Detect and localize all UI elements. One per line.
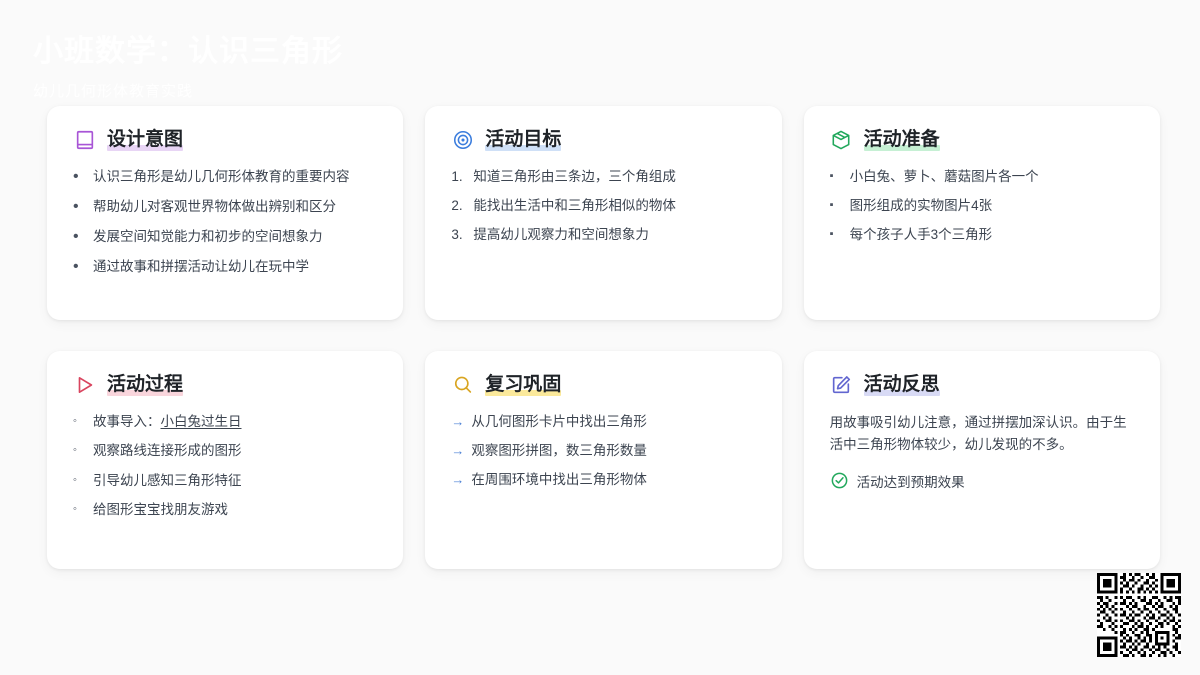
list-item-text: 故事导入：小白兔过生日 (93, 412, 377, 432)
card-title-wrap: 复习巩固 (485, 374, 561, 396)
play-triangle-icon (73, 373, 96, 396)
list-item: 1. 知道三角形由三条边，三个角组成 (451, 167, 755, 187)
bullet-circle-icon: ◦ (73, 412, 93, 432)
list-item-text: 从几何图形卡片中找出三角形 (471, 412, 755, 432)
card-title: 设计意图 (107, 129, 183, 150)
list-number: 3. (451, 225, 473, 245)
page-title: 小班数学：认识三角形 (33, 33, 733, 71)
card-activity-goals[interactable]: 活动目标 1. 知道三角形由三条边，三个角组成 2. 能找出生活中和三角形相似的… (425, 106, 781, 320)
card-list: • 认识三角形是幼儿几何形体教育的重要内容 • 帮助幼儿对客观世界物体做出辨别和… (73, 167, 377, 277)
list-item-text: 观察图形拼图，数三角形数量 (471, 441, 755, 461)
list-item-emphasis: 小白兔过生日 (161, 414, 242, 429)
arrow-right-icon: → (451, 412, 471, 432)
card-design-intent[interactable]: 设计意图 • 认识三角形是幼儿几何形体教育的重要内容 • 帮助幼儿对客观世界物体… (47, 106, 403, 320)
card-list: ◦ 故事导入：小白兔过生日 ◦ 观察路线连接形成的图形 ◦ 引导幼儿感知三角形特… (73, 412, 377, 520)
bullet-dot-icon: • (73, 227, 93, 247)
list-item-text: 给图形宝宝找朋友游戏 (93, 500, 377, 520)
card-list: ▪ 小白兔、萝卜、蘑菇图片各一个 ▪ 图形组成的实物图片4张 ▪ 每个孩子人手3… (830, 167, 1134, 245)
bullet-square-icon: ▪ (830, 167, 850, 186)
card-list: → 从几何图形卡片中找出三角形 → 观察图形拼图，数三角形数量 → 在周围环境中… (451, 412, 755, 490)
list-item: ◦ 给图形宝宝找朋友游戏 (73, 500, 377, 520)
card-header: 复习巩固 (451, 373, 755, 396)
list-item-text: 图形组成的实物图片4张 (850, 196, 1134, 216)
edit-square-icon (830, 373, 853, 396)
card-header: 活动准备 (830, 128, 1134, 151)
list-item: ◦ 故事导入：小白兔过生日 (73, 412, 377, 432)
card-activity-preparation[interactable]: 活动准备 ▪ 小白兔、萝卜、蘑菇图片各一个 ▪ 图形组成的实物图片4张 ▪ 每个… (804, 106, 1160, 320)
card-title-wrap: 设计意图 (107, 129, 183, 151)
list-item: ▪ 图形组成的实物图片4张 (830, 196, 1134, 216)
bullet-dot-icon: • (73, 167, 93, 187)
bullet-circle-icon: ◦ (73, 471, 93, 491)
page-header: 小班数学：认识三角形 幼儿几何形体教育实践 (33, 33, 733, 101)
list-item-text: 帮助幼儿对客观世界物体做出辨别和区分 (93, 197, 377, 217)
list-item-text: 观察路线连接形成的图形 (93, 441, 377, 461)
card-activity-reflection[interactable]: 活动反思 用故事吸引幼儿注意，通过拼摆加深认识。由于生活中三角形物体较少，幼儿发… (804, 351, 1160, 569)
reflection-note-text: 活动达到预期效果 (857, 471, 965, 491)
list-item: • 帮助幼儿对客观世界物体做出辨别和区分 (73, 197, 377, 217)
list-item-label: 故事导入： (93, 414, 161, 429)
bullet-circle-icon: ◦ (73, 500, 93, 520)
card-title: 活动目标 (485, 129, 561, 150)
reflection-paragraph: 用故事吸引幼儿注意，通过拼摆加深认识。由于生活中三角形物体较少，幼儿发现的不多。 (830, 412, 1134, 457)
card-header: 活动反思 (830, 373, 1134, 396)
card-list: 1. 知道三角形由三条边，三个角组成 2. 能找出生活中和三角形相似的物体 3.… (451, 167, 755, 245)
qr-code[interactable] (1097, 573, 1181, 657)
card-title: 活动准备 (864, 129, 940, 150)
list-item: ◦ 引导幼儿感知三角形特征 (73, 471, 377, 491)
list-item-text: 通过故事和拼摆活动让幼儿在玩中学 (93, 257, 377, 277)
bullet-square-icon: ▪ (830, 196, 850, 215)
card-title-wrap: 活动准备 (864, 129, 940, 151)
bullet-square-icon: ▪ (830, 225, 850, 244)
check-circle-icon (830, 471, 849, 490)
page-subtitle: 幼儿几何形体教育实践 (33, 80, 733, 101)
package-icon (830, 128, 853, 151)
card-grid: 设计意图 • 认识三角形是幼儿几何形体教育的重要内容 • 帮助幼儿对客观世界物体… (47, 106, 1160, 569)
card-header: 设计意图 (73, 128, 377, 151)
card-review-consolidation[interactable]: 复习巩固 → 从几何图形卡片中找出三角形 → 观察图形拼图，数三角形数量 → 在… (425, 351, 781, 569)
list-item: 2. 能找出生活中和三角形相似的物体 (451, 196, 755, 216)
list-number: 1. (451, 167, 473, 187)
arrow-right-icon: → (451, 441, 471, 461)
arrow-right-icon: → (451, 470, 471, 490)
list-item: • 通过故事和拼摆活动让幼儿在玩中学 (73, 257, 377, 277)
bullet-dot-icon: • (73, 197, 93, 217)
list-item: ▪ 小白兔、萝卜、蘑菇图片各一个 (830, 167, 1134, 187)
card-title: 活动过程 (107, 374, 183, 395)
list-item-text: 小白兔、萝卜、蘑菇图片各一个 (850, 167, 1134, 187)
list-item: 3. 提高幼儿观察力和空间想象力 (451, 225, 755, 245)
card-title-wrap: 活动目标 (485, 129, 561, 151)
list-item-text: 引导幼儿感知三角形特征 (93, 471, 377, 491)
book-icon (73, 128, 96, 151)
list-item: • 认识三角形是幼儿几何形体教育的重要内容 (73, 167, 377, 187)
card-activity-process[interactable]: 活动过程 ◦ 故事导入：小白兔过生日 ◦ 观察路线连接形成的图形 ◦ 引导幼儿感… (47, 351, 403, 569)
card-header: 活动目标 (451, 128, 755, 151)
card-title-wrap: 活动反思 (864, 374, 940, 396)
list-item-text: 能找出生活中和三角形相似的物体 (473, 196, 755, 216)
magnifier-icon (451, 373, 474, 396)
card-title-wrap: 活动过程 (107, 374, 183, 396)
target-icon (451, 128, 474, 151)
list-item: → 从几何图形卡片中找出三角形 (451, 412, 755, 432)
list-item: ▪ 每个孩子人手3个三角形 (830, 225, 1134, 245)
card-title: 复习巩固 (485, 374, 561, 395)
list-item: → 观察图形拼图，数三角形数量 (451, 441, 755, 461)
list-item-text: 发展空间知觉能力和初步的空间想象力 (93, 227, 377, 247)
bullet-dot-icon: • (73, 257, 93, 277)
list-item-text: 在周围环境中找出三角形物体 (471, 470, 755, 490)
list-item-text: 知道三角形由三条边，三个角组成 (473, 167, 755, 187)
list-number: 2. (451, 196, 473, 216)
card-header: 活动过程 (73, 373, 377, 396)
bullet-circle-icon: ◦ (73, 441, 93, 461)
card-title: 活动反思 (864, 374, 940, 395)
list-item-text: 认识三角形是幼儿几何形体教育的重要内容 (93, 167, 377, 187)
list-item: • 发展空间知觉能力和初步的空间想象力 (73, 227, 377, 247)
list-item: → 在周围环境中找出三角形物体 (451, 470, 755, 490)
qr-code-image (1097, 573, 1181, 657)
list-item-text: 每个孩子人手3个三角形 (850, 225, 1134, 245)
reflection-note: 活动达到预期效果 (830, 471, 1134, 491)
list-item: ◦ 观察路线连接形成的图形 (73, 441, 377, 461)
list-item-text: 提高幼儿观察力和空间想象力 (473, 225, 755, 245)
